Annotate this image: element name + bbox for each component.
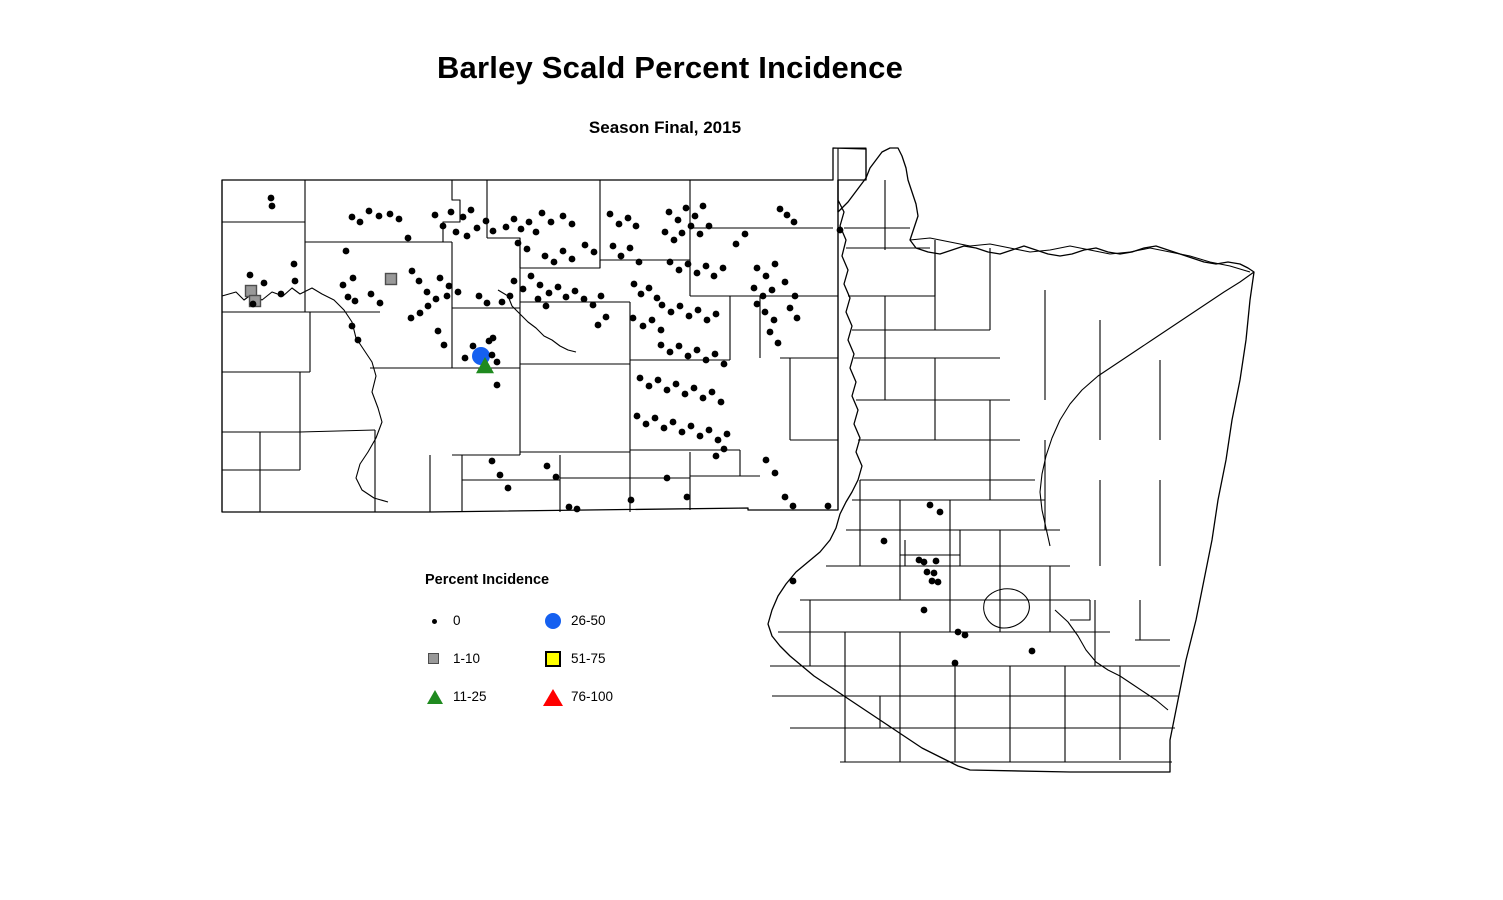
data-point-0 <box>704 317 711 324</box>
data-point-0 <box>560 248 567 255</box>
data-point-0 <box>343 248 350 255</box>
data-point-0 <box>350 275 357 282</box>
data-point-0 <box>654 295 661 302</box>
data-point-0 <box>782 494 789 501</box>
data-point-0 <box>448 209 455 216</box>
data-point-0 <box>718 399 725 406</box>
data-point-0 <box>794 315 801 322</box>
data-point-0 <box>515 240 522 247</box>
data-point-0 <box>446 283 453 290</box>
data-point-0 <box>444 293 451 300</box>
data-point-0 <box>261 280 268 287</box>
data-point-0 <box>685 261 692 268</box>
data-point-0 <box>518 226 525 233</box>
data-point-0 <box>790 578 797 585</box>
data-point-0 <box>462 355 469 362</box>
legend-symbol-green-triangle <box>424 686 446 708</box>
legend-title: Percent Incidence <box>425 572 549 588</box>
data-point-0 <box>769 287 776 294</box>
data-point-0 <box>637 375 644 382</box>
data-point-0 <box>697 231 704 238</box>
data-point-0 <box>563 294 570 301</box>
data-point-0 <box>497 472 504 479</box>
data-point-0 <box>782 279 789 286</box>
data-point-0 <box>598 293 605 300</box>
data-point-0 <box>631 281 638 288</box>
data-point-0 <box>490 228 497 235</box>
data-point-0 <box>711 273 718 280</box>
data-point-0 <box>409 268 416 275</box>
data-point-0 <box>453 229 460 236</box>
data-point-0 <box>837 227 844 234</box>
data-point-0 <box>937 509 944 516</box>
data-point-0 <box>668 309 675 316</box>
data-point-0 <box>679 429 686 436</box>
data-point-0 <box>349 323 356 330</box>
data-point-0 <box>677 303 684 310</box>
data-point-0 <box>673 381 680 388</box>
data-point-0 <box>511 278 518 285</box>
data-point-0 <box>476 293 483 300</box>
legend-symbol-red-triangle <box>542 686 564 708</box>
data-point-0 <box>376 213 383 220</box>
data-point-0 <box>352 298 359 305</box>
data-point-0 <box>250 301 257 308</box>
data-point-0 <box>664 387 671 394</box>
data-point-0 <box>627 245 634 252</box>
data-point-0 <box>368 291 375 298</box>
data-point-0 <box>791 219 798 226</box>
data-point-0 <box>955 629 962 636</box>
legend-symbol-gray-square <box>424 648 446 670</box>
data-point-0 <box>533 229 540 236</box>
data-point-0 <box>742 231 749 238</box>
data-point-0 <box>425 303 432 310</box>
data-point-0 <box>695 307 702 314</box>
data-point-0 <box>691 385 698 392</box>
nw-angle <box>838 148 866 180</box>
data-point-0 <box>528 273 535 280</box>
data-point-0 <box>616 221 623 228</box>
data-point-0 <box>468 207 475 214</box>
data-point-0 <box>662 229 669 236</box>
data-point-0 <box>582 242 589 249</box>
data-point-0 <box>676 343 683 350</box>
data-point-0 <box>474 225 481 232</box>
data-point-0 <box>489 352 496 359</box>
data-point-0 <box>658 327 665 334</box>
mille-lacs-lake <box>984 589 1030 628</box>
data-point-0 <box>560 213 567 220</box>
data-point-0 <box>754 265 761 272</box>
data-point-0 <box>542 253 549 260</box>
data-point-0 <box>440 223 447 230</box>
legend-label-11-25: 11-25 <box>453 689 487 704</box>
map-legend: Percent Incidence 0 1-10 11-25 26-50 51-… <box>424 572 654 702</box>
data-point-0 <box>721 361 728 368</box>
data-point-0 <box>555 284 562 291</box>
data-point-0 <box>396 216 403 223</box>
data-point-0 <box>688 423 695 430</box>
data-point-0 <box>659 302 666 309</box>
legend-symbol-yellow-square <box>542 648 564 670</box>
data-point-0 <box>762 309 769 316</box>
data-point-0 <box>962 632 969 639</box>
data-point-0 <box>292 278 299 285</box>
data-point-0 <box>661 425 668 432</box>
data-point-0 <box>790 503 797 510</box>
data-point-0 <box>675 217 682 224</box>
data-point-0 <box>634 413 641 420</box>
data-point-0 <box>667 259 674 266</box>
data-point-0 <box>685 353 692 360</box>
data-point-0 <box>278 291 285 298</box>
data-point-0 <box>416 278 423 285</box>
data-point-0 <box>763 273 770 280</box>
data-point-0 <box>484 300 491 307</box>
mn-north-border-detail <box>910 238 1250 272</box>
legend-symbol-small-black-dot <box>424 610 446 632</box>
data-point-0 <box>507 293 514 300</box>
data-point-0 <box>535 296 542 303</box>
data-point-0 <box>408 315 415 322</box>
data-point-0 <box>537 282 544 289</box>
data-point-0 <box>643 421 650 428</box>
data-point-0 <box>437 275 444 282</box>
data-point-0 <box>618 253 625 260</box>
data-point-0 <box>703 263 710 270</box>
data-point-0 <box>784 212 791 219</box>
data-point-0 <box>700 203 707 210</box>
data-point-0 <box>581 296 588 303</box>
data-point-0 <box>667 349 674 356</box>
data-point-0 <box>247 272 254 279</box>
data-point-0 <box>569 221 576 228</box>
data-point-0 <box>666 209 673 216</box>
data-point-1-10 <box>386 274 397 285</box>
data-point-0 <box>441 342 448 349</box>
data-point-0 <box>505 485 512 492</box>
data-point-0 <box>697 433 704 440</box>
data-point-0 <box>881 538 888 545</box>
data-point-0 <box>760 293 767 300</box>
data-point-0 <box>679 230 686 237</box>
data-point-0 <box>548 219 555 226</box>
data-point-0 <box>590 302 597 309</box>
data-point-0 <box>417 310 424 317</box>
data-point-0 <box>775 340 782 347</box>
data-point-0 <box>721 446 728 453</box>
mississippi-river <box>1055 610 1168 710</box>
data-point-0 <box>754 301 761 308</box>
data-point-0 <box>921 607 928 614</box>
data-point-0 <box>377 300 384 307</box>
data-point-0 <box>713 311 720 318</box>
nd-tier-line-4b <box>300 430 375 432</box>
data-point-0 <box>489 458 496 465</box>
data-point-0 <box>767 329 774 336</box>
legend-symbol-blue-circle <box>542 610 564 632</box>
data-point-0 <box>366 208 373 215</box>
data-point-0 <box>387 211 394 218</box>
data-point-0 <box>503 224 510 231</box>
data-point-0 <box>825 503 832 510</box>
legend-label-26-50: 26-50 <box>571 613 606 628</box>
legend-label-76-100: 76-100 <box>571 689 613 704</box>
data-point-0 <box>777 206 784 213</box>
data-point-0 <box>712 351 719 358</box>
data-point-0 <box>751 285 758 292</box>
data-point-0 <box>694 347 701 354</box>
data-point-0 <box>671 237 678 244</box>
data-point-0 <box>633 223 640 230</box>
data-point-0 <box>792 293 799 300</box>
data-point-0 <box>929 578 936 585</box>
lake-superior-shore <box>1040 272 1254 546</box>
data-point-0 <box>524 246 531 253</box>
data-point-0 <box>607 211 614 218</box>
county-map-svg <box>0 0 1503 900</box>
data-point-0 <box>694 270 701 277</box>
data-point-0 <box>787 305 794 312</box>
data-point-0 <box>646 383 653 390</box>
map-page: Barley Scald Percent Incidence Season Fi… <box>0 0 1503 900</box>
data-point-0 <box>931 570 938 577</box>
data-point-0 <box>625 215 632 222</box>
data-point-0 <box>546 290 553 297</box>
data-point-0 <box>709 389 716 396</box>
data-point-0 <box>553 474 560 481</box>
data-point-0 <box>494 359 501 366</box>
legend-label-1-10: 1-10 <box>453 651 480 666</box>
data-point-0 <box>700 395 707 402</box>
data-point-0 <box>688 223 695 230</box>
data-point-0 <box>551 259 558 266</box>
data-point-0 <box>349 214 356 221</box>
data-point-0 <box>652 415 659 422</box>
data-point-0 <box>355 337 362 344</box>
data-point-0 <box>268 195 275 202</box>
data-point-0 <box>682 391 689 398</box>
data-point-0 <box>511 216 518 223</box>
data-point-0 <box>520 286 527 293</box>
data-point-0 <box>715 437 722 444</box>
data-point-0 <box>670 419 677 426</box>
data-point-0 <box>771 317 778 324</box>
mn-detail-d <box>1070 600 1090 620</box>
data-point-0 <box>345 294 352 301</box>
data-point-0 <box>269 203 276 210</box>
data-point-0 <box>433 296 440 303</box>
data-point-0 <box>772 261 779 268</box>
data-point-0 <box>724 431 731 438</box>
data-point-0 <box>649 317 656 324</box>
data-point-0 <box>610 243 617 250</box>
data-point-0 <box>603 314 610 321</box>
data-point-0 <box>924 569 931 576</box>
legend-label-51-75: 51-75 <box>571 651 606 666</box>
data-point-0 <box>435 328 442 335</box>
data-point-0 <box>686 313 693 320</box>
data-point-0 <box>706 223 713 230</box>
data-point-0 <box>499 299 506 306</box>
legend-label-0: 0 <box>453 613 461 628</box>
data-point-0 <box>630 315 637 322</box>
data-point-0 <box>952 660 959 667</box>
data-point-0 <box>340 282 347 289</box>
data-point-0 <box>655 377 662 384</box>
data-point-0 <box>455 289 462 296</box>
data-point-0 <box>291 261 298 268</box>
data-point-0 <box>628 497 635 504</box>
data-point-0 <box>569 256 576 263</box>
data-point-0 <box>933 558 940 565</box>
minnesota-outline <box>768 148 1254 772</box>
data-point-0 <box>470 343 477 350</box>
data-point-0 <box>684 494 691 501</box>
data-point-0 <box>591 249 598 256</box>
data-point-0 <box>772 470 779 477</box>
data-point-0 <box>733 241 740 248</box>
data-point-0 <box>706 427 713 434</box>
data-point-0 <box>646 285 653 292</box>
data-point-0 <box>921 559 928 566</box>
data-point-0 <box>572 288 579 295</box>
data-point-0 <box>935 579 942 586</box>
data-point-0 <box>638 291 645 298</box>
data-point-0 <box>713 453 720 460</box>
data-point-0 <box>763 457 770 464</box>
data-point-0 <box>927 502 934 509</box>
data-point-0 <box>692 213 699 220</box>
data-point-0 <box>544 463 551 470</box>
data-point-0 <box>432 212 439 219</box>
data-point-0 <box>526 219 533 226</box>
data-point-0 <box>595 322 602 329</box>
data-point-0 <box>676 267 683 274</box>
data-point-0 <box>720 265 727 272</box>
data-point-0 <box>460 214 467 221</box>
data-point-0 <box>574 506 581 513</box>
data-point-0 <box>1029 648 1036 655</box>
data-point-0 <box>543 303 550 310</box>
data-point-0 <box>405 235 412 242</box>
data-point-0 <box>494 382 501 389</box>
data-point-0 <box>483 218 490 225</box>
data-point-0 <box>357 219 364 226</box>
map-canvas <box>0 0 1503 900</box>
data-point-0 <box>464 233 471 240</box>
data-point-0 <box>658 342 665 349</box>
data-point-0 <box>664 475 671 482</box>
data-point-0 <box>640 323 647 330</box>
data-point-0 <box>703 357 710 364</box>
data-point-0 <box>636 259 643 266</box>
data-point-0 <box>539 210 546 217</box>
data-point-0 <box>683 205 690 212</box>
data-point-0 <box>424 289 431 296</box>
data-point-0 <box>566 504 573 511</box>
data-point-0 <box>490 335 497 342</box>
